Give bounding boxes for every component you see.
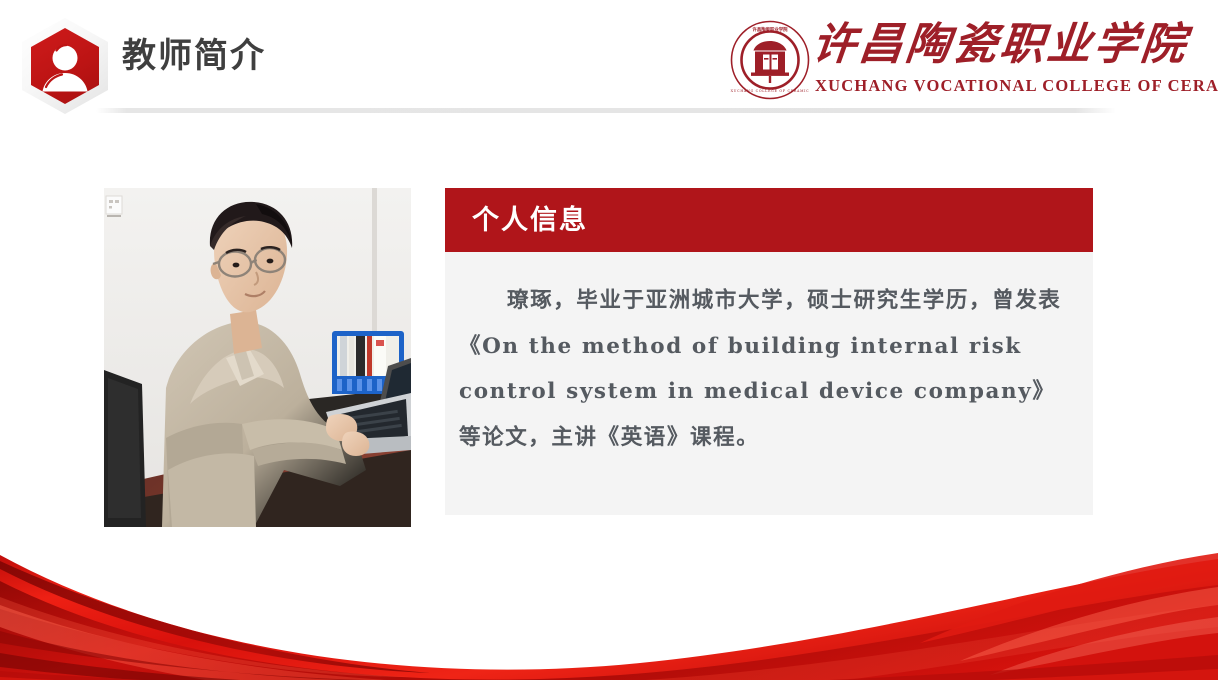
school-logo-text: 许昌陶瓷职业学院 XUCHANG VOCATIONAL COLLEGE OF C… xyxy=(812,16,1180,108)
school-name-en: XUCHANG VOCATIONAL COLLEGE OF CERAMIC xyxy=(815,76,1180,96)
school-logo: 许昌陶瓷职业学院 XUCHANG COLLEGE OF CERAMIC 许昌陶瓷… xyxy=(730,16,1180,108)
svg-text:许昌陶瓷职业学院: 许昌陶瓷职业学院 xyxy=(752,26,788,33)
red-silk-ribbon-wave xyxy=(0,535,1218,680)
page-title: 教师简介 xyxy=(122,36,266,76)
person-silhouette-icon xyxy=(31,28,99,104)
svg-text:XUCHANG COLLEGE OF CERAMIC: XUCHANG COLLEGE OF CERAMIC xyxy=(731,89,810,93)
person-avatar-icon xyxy=(22,18,108,114)
personal-info-body: 璙琢，毕业于亚洲城市大学，硕士研究生学历，曾发表《On the method o… xyxy=(445,252,1093,515)
page-header: 教师简介 许昌陶瓷职业学院 xyxy=(0,0,1218,122)
school-seal-emblem-icon: 许昌陶瓷职业学院 XUCHANG COLLEGE OF CERAMIC xyxy=(730,20,810,100)
personal-info-text: 璙琢，毕业于亚洲城市大学，硕士研究生学历，曾发表《On the method o… xyxy=(459,278,1069,460)
header-divider xyxy=(96,108,1116,113)
personal-info-header-label: 个人信息 xyxy=(472,202,588,238)
school-name-cn: 许昌陶瓷职业学院 xyxy=(809,19,1182,71)
teacher-photo xyxy=(104,188,411,527)
slide-canvas: 教师简介 许昌陶瓷职业学院 xyxy=(0,0,1218,680)
personal-info-panel: 个人信息 璙琢，毕业于亚洲城市大学，硕士研究生学历，曾发表《On the met… xyxy=(445,188,1093,515)
personal-info-header: 个人信息 xyxy=(445,188,1093,252)
